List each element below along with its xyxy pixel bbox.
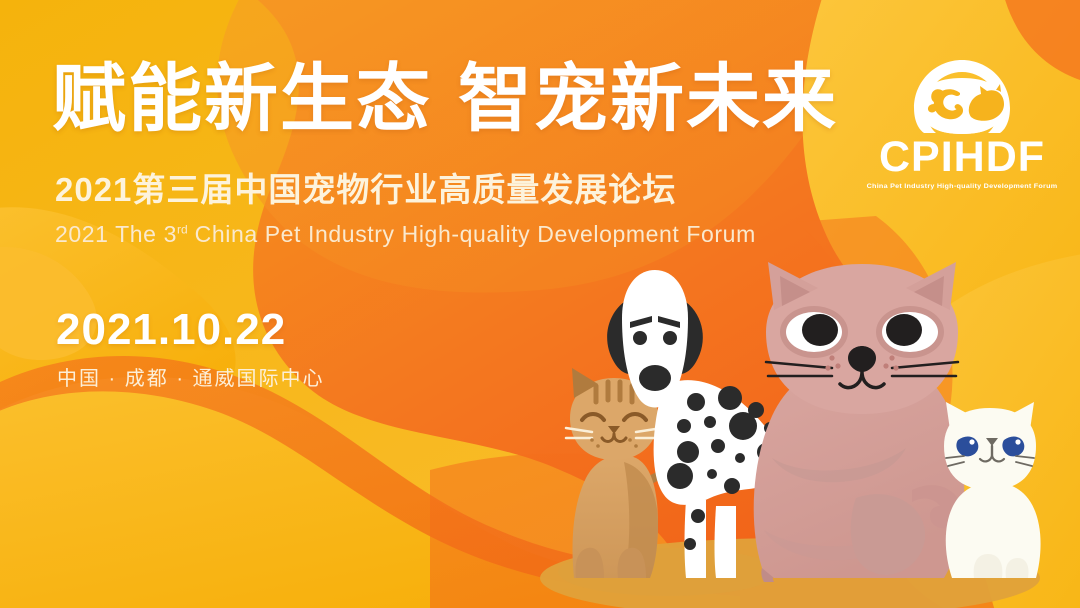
poster-subtitle-en: 2021 The 3rd China Pet Industry High-qua… [55, 222, 756, 247]
headline-part-1: 赋能新生态 [52, 57, 432, 140]
dog-and-cat-silhouette-icon [912, 58, 1012, 134]
poster-subtitle-cn: 2021第三届中国宠物行业高质量发展论坛 [55, 172, 676, 208]
event-venue: 中国 · 成都 · 通威国际中心 [57, 362, 325, 391]
big-pink-cat [754, 262, 965, 582]
headline-part-2: 智宠新未来 [458, 57, 838, 140]
cpihdf-logo: CPIHDF China Pet Industry High-quality D… [862, 58, 1062, 203]
subtitle-en-post: China Pet Industry High-quality Developm… [188, 221, 756, 247]
event-date: 2021.10.22 [56, 305, 286, 355]
logo-tagline: China Pet Industry High-quality Developm… [862, 182, 1062, 189]
poster-headline: 赋能新生态智宠新未来 [52, 62, 838, 136]
logo-wordmark: CPIHDF [862, 136, 1062, 179]
event-poster: 赋能新生态智宠新未来 2021第三届中国宠物行业高质量发展论坛 2021 The… [0, 0, 1080, 608]
subtitle-en-ordinal: rd [177, 222, 188, 236]
subtitle-en-pre: 2021 The 3 [55, 221, 177, 247]
pet-illustration-group [560, 262, 1080, 608]
